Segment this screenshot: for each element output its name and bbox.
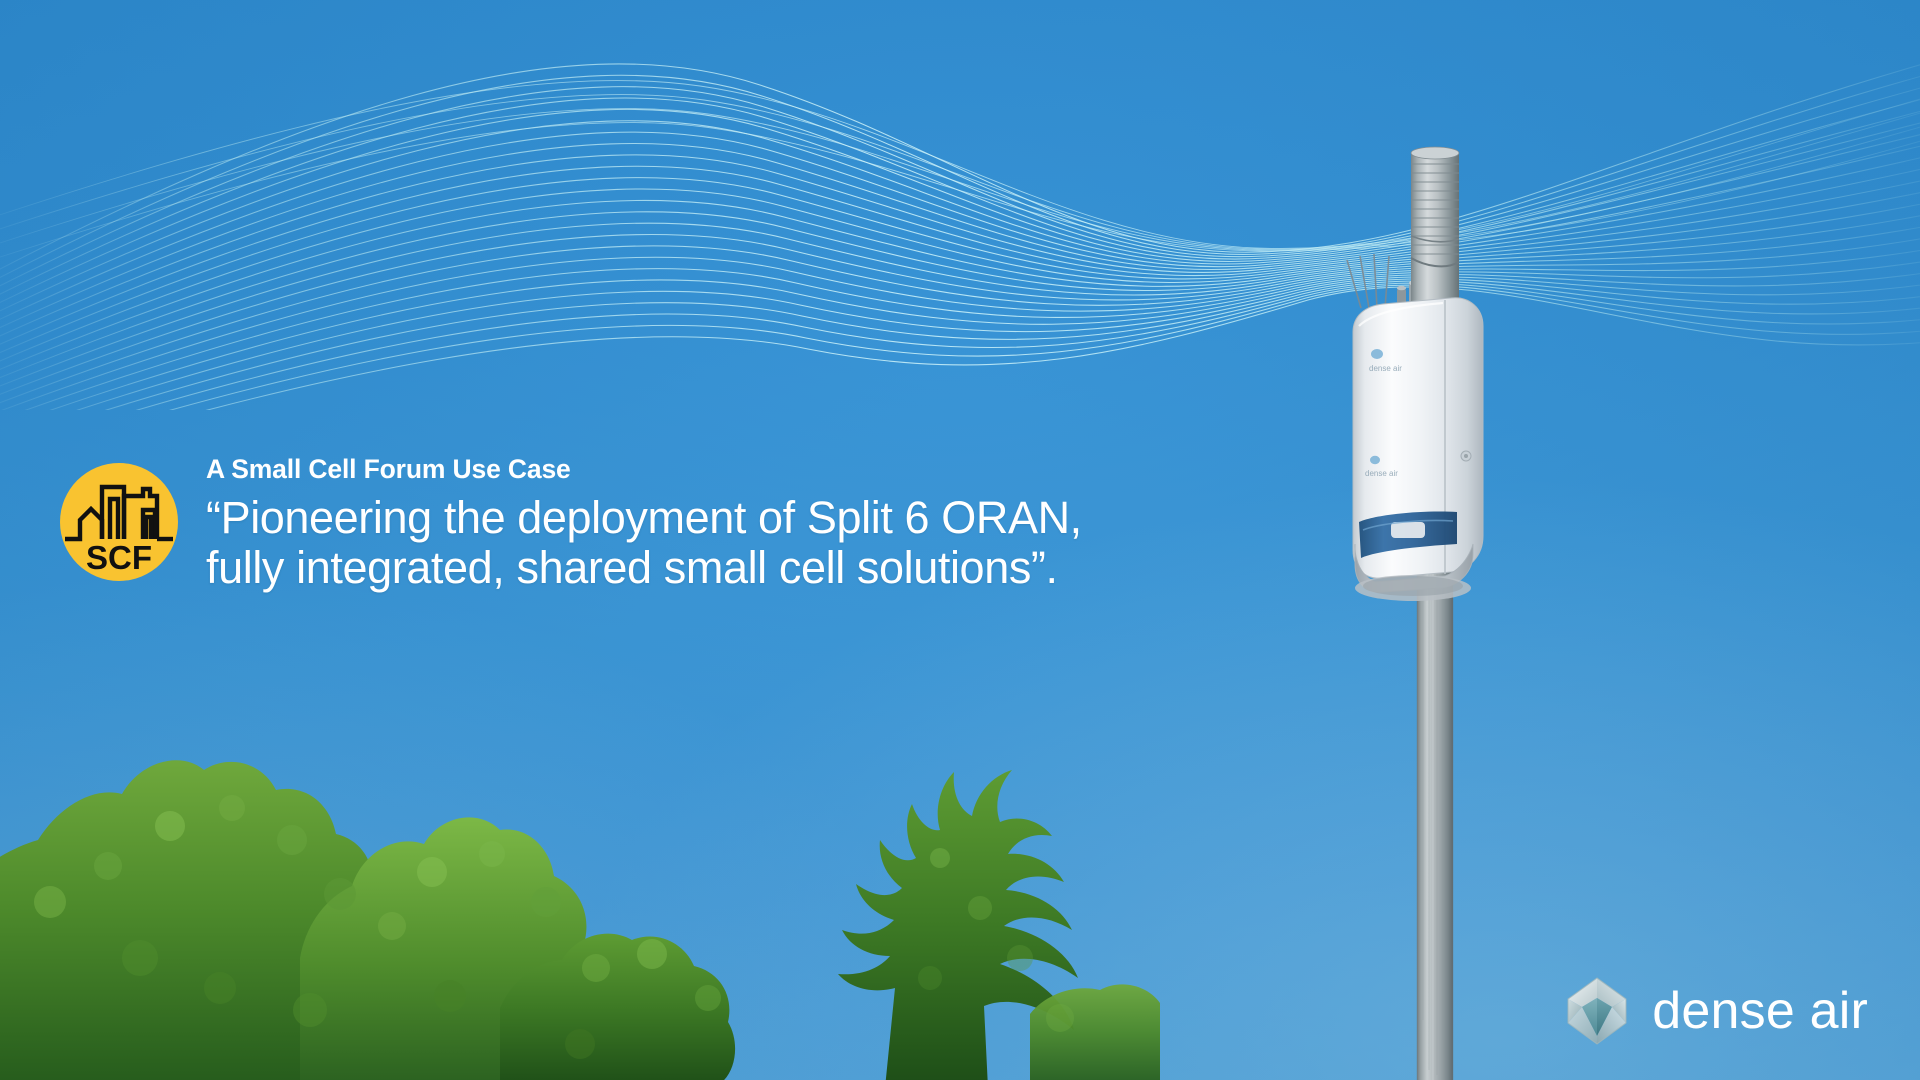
small-cell-unit: dense air dense air (1333, 140, 1533, 1080)
wave-graphic (0, 0, 1920, 410)
headline-line-1: “Pioneering the deployment of Split 6 OR… (206, 493, 1180, 543)
headline-line-2: fully integrated, shared small cell solu… (206, 543, 1180, 593)
eyebrow-text: A Small Cell Forum Use Case (206, 455, 1180, 484)
scf-badge-abbr: SCF (86, 539, 152, 576)
headline-quote: “Pioneering the deployment of Split 6 OR… (206, 493, 1180, 592)
banner-stage: dense air dense air (0, 0, 1920, 1080)
headline-block: SCF A Small Cell Forum Use Case “Pioneer… (60, 455, 1180, 592)
dense-air-logo: dense air (1560, 974, 1868, 1048)
svg-text:dense air: dense air (1365, 469, 1398, 478)
octahedron-crystal-icon (1560, 974, 1634, 1048)
tree-line (0, 658, 1160, 1080)
dense-air-wordmark: dense air (1652, 985, 1868, 1037)
scf-badge: SCF (60, 463, 178, 581)
svg-text:dense air: dense air (1369, 364, 1402, 373)
